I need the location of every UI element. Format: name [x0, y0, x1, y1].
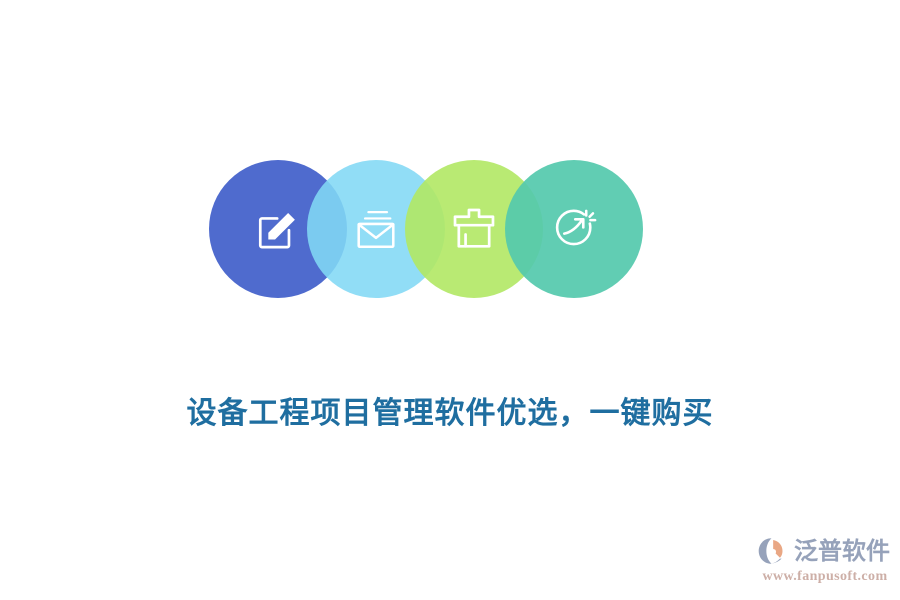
overlapping-circles-graphic: [209, 160, 645, 298]
edit-square-icon: [251, 202, 305, 256]
watermark-brand-row: 泛普软件: [757, 534, 893, 568]
headline-text: 设备工程项目管理软件优选，一键购买: [0, 388, 900, 432]
brand-watermark: 泛普软件 www.fanpusoft.com: [757, 534, 893, 590]
store-icon: [447, 202, 501, 256]
page-root: 设备工程项目管理软件优选，一键购买 泛普软件 www.fanpusoft.com: [0, 0, 900, 600]
rocket-arrow-circle-icon: [547, 202, 601, 256]
watermark-url: www.fanpusoft.com: [757, 569, 893, 585]
fanpu-logo-icon: [757, 536, 791, 566]
watermark-brand-name: 泛普软件: [794, 536, 890, 566]
circle-launch: [505, 160, 643, 298]
envelope-icon: [349, 202, 403, 256]
